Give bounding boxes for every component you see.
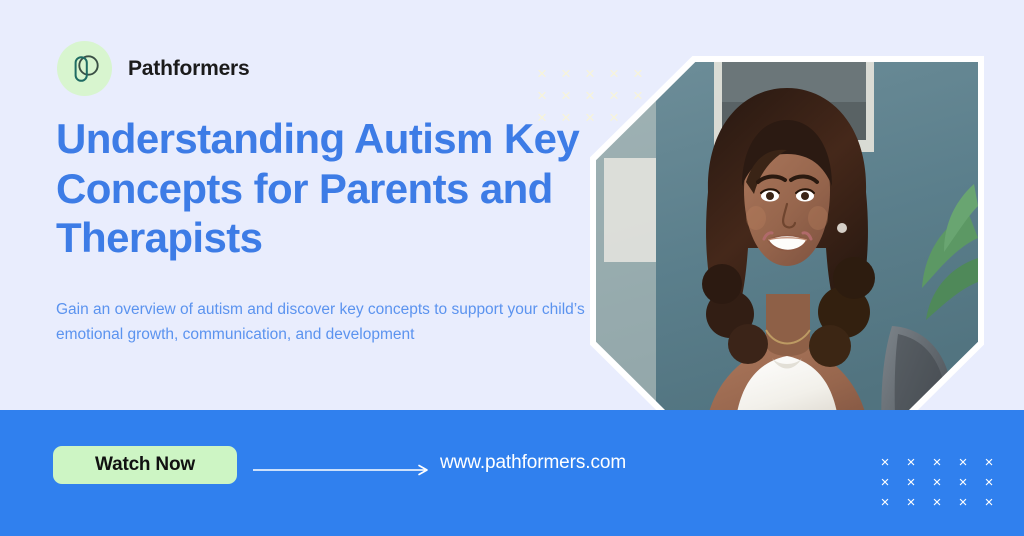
x-mark-icon: × (872, 492, 898, 512)
x-mark-icon: × (950, 472, 976, 492)
x-mark-icon: × (950, 492, 976, 512)
brand-name: Pathformers (128, 57, 250, 81)
x-mark-icon: × (578, 62, 602, 84)
x-mark-icon: × (872, 452, 898, 472)
x-mark-icon: × (950, 452, 976, 472)
x-mark-icon: × (554, 84, 578, 106)
arrow-right-icon (253, 463, 431, 475)
x-mark-icon: × (898, 492, 924, 512)
x-mark-icon: × (976, 492, 1002, 512)
page-title: Understanding Autism Key Concepts for Pa… (56, 114, 656, 263)
website-link[interactable]: www.pathformers.com (440, 452, 626, 474)
pathformers-p-monogram-icon (57, 41, 112, 96)
hero-photo-image (596, 62, 978, 440)
x-mark-icon: × (626, 62, 650, 84)
x-mark-icon: × (872, 472, 898, 492)
x-mark-icon: × (924, 472, 950, 492)
x-mark-icon: × (898, 452, 924, 472)
x-mark-icon: × (530, 84, 554, 106)
x-mark-icon: × (924, 492, 950, 512)
x-mark-icon: × (602, 84, 626, 106)
x-mark-icon: × (924, 452, 950, 472)
decorative-x-grid-bottom: ××××××××××××××× (872, 452, 1002, 512)
x-mark-icon: × (530, 62, 554, 84)
x-mark-icon: × (976, 452, 1002, 472)
x-mark-icon: × (976, 472, 1002, 492)
watch-now-button[interactable]: Watch Now (53, 446, 237, 484)
hero-photo (596, 62, 978, 440)
promo-banner: ××××××××××××××× Pathformers Understandin… (0, 0, 1024, 536)
x-mark-icon: × (578, 84, 602, 106)
x-mark-icon: × (554, 62, 578, 84)
x-mark-icon: × (898, 472, 924, 492)
x-mark-icon: × (602, 62, 626, 84)
page-subtitle: Gain an overview of autism and discover … (56, 297, 646, 347)
brand-lockup: Pathformers (57, 41, 250, 96)
